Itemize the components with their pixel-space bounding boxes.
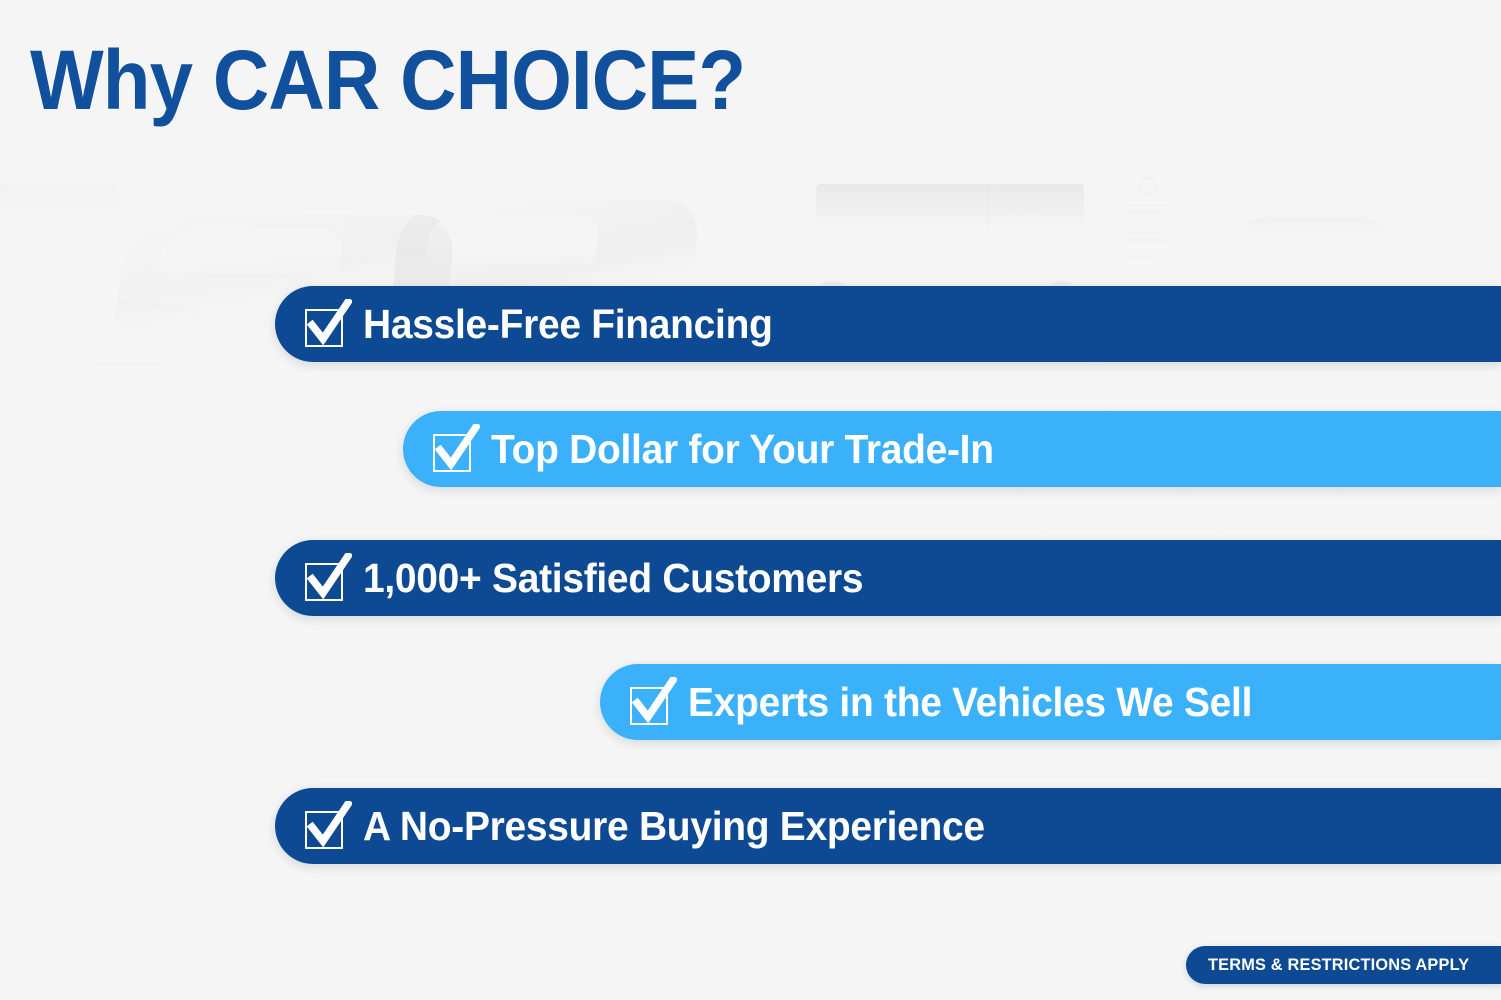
checkbox-checked-icon bbox=[305, 555, 347, 601]
benefit-label: Hassle-Free Financing bbox=[363, 301, 773, 348]
benefit-label: 1,000+ Satisfied Customers bbox=[363, 555, 863, 602]
terms-disclaimer-text: TERMS & RESTRICTIONS APPLY bbox=[1208, 955, 1469, 975]
benefit-label: Experts in the Vehicles We Sell bbox=[688, 679, 1252, 726]
benefit-item-hassle-free-financing[interactable]: Hassle-Free Financing bbox=[275, 286, 1501, 362]
benefit-item-no-pressure-buying[interactable]: A No-Pressure Buying Experience bbox=[275, 788, 1501, 864]
checkbox-checked-icon bbox=[305, 301, 347, 347]
benefit-list: Hassle-Free Financing Top Dollar for You… bbox=[0, 0, 1501, 1000]
checkbox-checked-icon bbox=[433, 426, 475, 472]
checkbox-checked-icon bbox=[305, 803, 347, 849]
benefit-label: Top Dollar for Your Trade-In bbox=[491, 426, 994, 473]
checkbox-checked-icon bbox=[630, 679, 672, 725]
promo-poster: Why CAR CHOICE? Hassle-Free Financing To… bbox=[0, 0, 1501, 1000]
benefit-item-top-dollar-trade-in[interactable]: Top Dollar for Your Trade-In bbox=[403, 411, 1501, 487]
benefit-item-vehicle-experts[interactable]: Experts in the Vehicles We Sell bbox=[600, 664, 1501, 740]
benefit-item-satisfied-customers[interactable]: 1,000+ Satisfied Customers bbox=[275, 540, 1501, 616]
benefit-label: A No-Pressure Buying Experience bbox=[363, 803, 985, 850]
terms-disclaimer-badge: TERMS & RESTRICTIONS APPLY bbox=[1186, 946, 1501, 984]
